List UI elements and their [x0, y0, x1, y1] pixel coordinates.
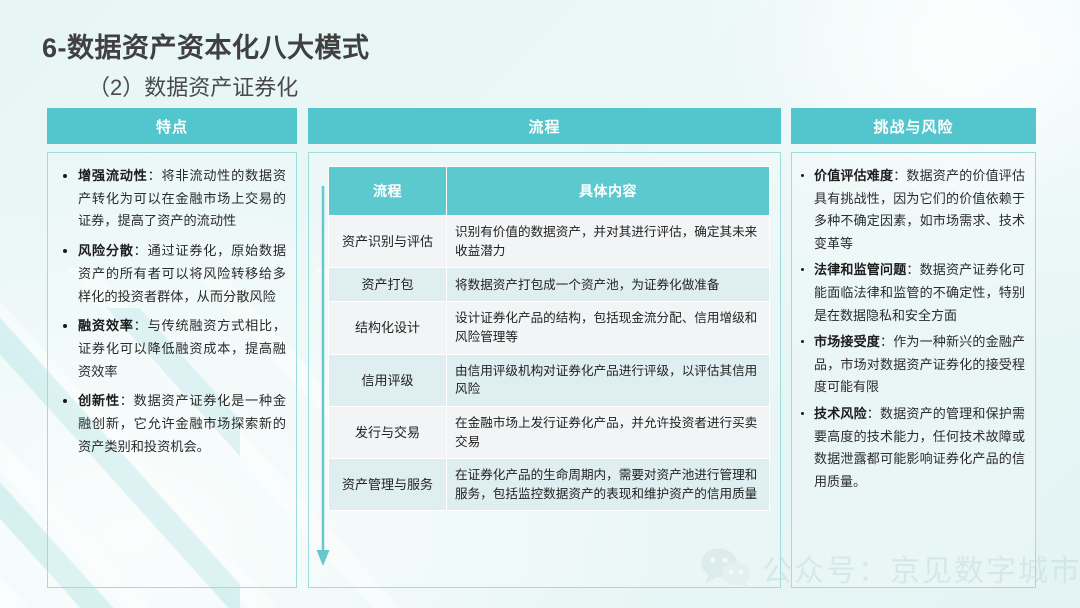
risk-term: 价值评估难度: [814, 168, 893, 183]
risk-term: 技术风险: [814, 406, 867, 421]
process-table-body: 资产识别与评估识别有价值的数据资产，并对其进行评估，确定其未来收益潜力资产打包将…: [329, 216, 770, 511]
column-header-challenges: 挑战与风险: [791, 108, 1036, 144]
table-row: 信用评级由信用评级机构对证券化产品进行评级，以评估其信用风险: [329, 354, 770, 406]
process-step-name: 资产打包: [329, 268, 447, 302]
table-row: 结构化设计设计证券化产品的结构，包括现金流分配、信用增级和风险管理等: [329, 302, 770, 354]
feature-term: 增强流动性: [78, 168, 148, 183]
table-row: 资产识别与评估识别有价值的数据资产，并对其进行评估，确定其未来收益潜力: [329, 216, 770, 268]
challenges-panel: 价值评估难度：数据资产的价值评估具有挑战性，因为它们的价值依赖于多种不确定因素，…: [791, 152, 1036, 588]
process-step-detail: 设计证券化产品的结构，包括现金流分配、信用增级和风险管理等: [447, 302, 770, 354]
page-subtitle: （2）数据资产证券化: [88, 70, 298, 102]
process-table-header-step: 流程: [329, 167, 447, 216]
challenges-list: 价值评估难度：数据资产的价值评估具有挑战性，因为它们的价值依赖于多种不确定因素，…: [792, 153, 1035, 494]
process-table-header-row: 流程 具体内容: [329, 167, 770, 216]
process-step-detail: 识别有价值的数据资产，并对其进行评估，确定其未来收益潜力: [447, 216, 770, 268]
process-step-detail: 将数据资产打包成一个资产池，为证券化做准备: [447, 268, 770, 302]
risk-item: 价值评估难度：数据资产的价值评估具有挑战性，因为它们的价值依赖于多种不确定因素，…: [798, 165, 1025, 255]
column-header-features: 特点: [47, 108, 297, 144]
process-table-header-detail: 具体内容: [447, 167, 770, 216]
process-step-name: 资产识别与评估: [329, 216, 447, 268]
table-row: 资产打包将数据资产打包成一个资产池，为证券化做准备: [329, 268, 770, 302]
table-row: 资产管理与服务在证券化产品的生命周期内，需要对资产池进行管理和服务，包括监控数据…: [329, 459, 770, 511]
feature-item: 融资效率：与传统融资方式相比，证券化可以降低融资成本，提高融资效率: [54, 315, 286, 383]
process-step-name: 资产管理与服务: [329, 459, 447, 511]
page-title: 6-数据资产资本化八大模式: [42, 26, 370, 65]
feature-item: 风险分散：通过证券化，原始数据资产的所有者可以将风险转移给多样化的投资者群体，从…: [54, 240, 286, 308]
risk-item: 市场接受度：作为一种新兴的金融产品，市场对数据资产证券化的接受程度可能有限: [798, 331, 1025, 399]
table-row: 发行与交易在金融市场上发行证券化产品，并允许投资者进行买卖交易: [329, 406, 770, 458]
risk-term: 法律和监管问题: [814, 262, 906, 277]
feature-item: 增强流动性：将非流动性的数据资产转化为可以在金融市场上交易的证券，提高了资产的流…: [54, 165, 286, 233]
process-step-name: 发行与交易: [329, 406, 447, 458]
process-step-detail: 由信用评级机构对证券化产品进行评级，以评估其信用风险: [447, 354, 770, 406]
slide-canvas: 6-数据资产资本化八大模式 （2）数据资产证券化 特点 流程 挑战与风险 增强流…: [0, 0, 1080, 608]
process-step-name: 结构化设计: [329, 302, 447, 354]
process-step-detail: 在金融市场上发行证券化产品，并允许投资者进行买卖交易: [447, 406, 770, 458]
feature-term: 融资效率: [78, 318, 134, 333]
feature-term: 创新性: [78, 393, 120, 408]
risk-term: 市场接受度: [814, 334, 880, 349]
process-step-detail: 在证券化产品的生命周期内，需要对资产池进行管理和服务，包括监控数据资产的表现和维…: [447, 459, 770, 511]
process-step-name: 信用评级: [329, 354, 447, 406]
risk-item: 技术风险：数据资产的管理和保护需要高度的技术能力，任何技术故障或数据泄露都可能影…: [798, 403, 1025, 493]
column-header-process: 流程: [308, 108, 781, 144]
risk-item: 法律和监管问题：数据资产证券化可能面临法律和监管的不确定性，特别是在数据隐私和安…: [798, 259, 1025, 327]
feature-item: 创新性：数据资产证券化是一种金融创新，它允许金融市场探索新的资产类别和投资机会。: [54, 390, 286, 458]
features-panel: 增强流动性：将非流动性的数据资产转化为可以在金融市场上交易的证券，提高了资产的流…: [47, 152, 297, 588]
process-table: 流程 具体内容 资产识别与评估识别有价值的数据资产，并对其进行评估，确定其未来收…: [328, 166, 770, 511]
feature-term: 风险分散: [78, 243, 134, 258]
features-list: 增强流动性：将非流动性的数据资产转化为可以在金融市场上交易的证券，提高了资产的流…: [48, 153, 296, 458]
